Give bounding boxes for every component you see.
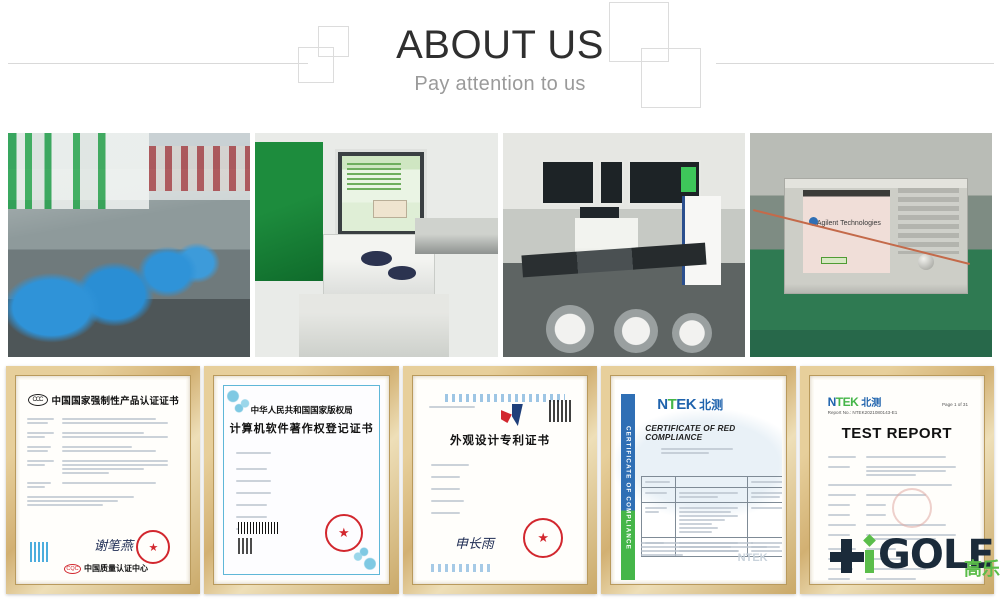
certificate-red-compliance[interactable]: CERTIFICATE OF COMPLIANCE NTEK 北测 CERTIF… (601, 366, 795, 594)
feeder-reel-3 (672, 313, 712, 353)
ccc-header: CCC 中国国家强制性产品认证证书 (20, 393, 186, 407)
network-analyzer: Agilent Technologies (784, 178, 968, 294)
barcode-icon (238, 522, 278, 534)
certificate-sheet: CCC 中国国家强制性产品认证证书 谢笔燕 (20, 380, 186, 580)
analyzer-brand-text: Agilent Technologies (817, 220, 881, 227)
cqc-badge-icon: CQC (64, 564, 81, 574)
analyzer-keypad (898, 188, 960, 254)
ntek-wordmark: NTEK (657, 396, 696, 413)
certificate-design-patent[interactable]: 外观设计专利证书 申长雨 (403, 366, 597, 594)
ntek-brand: NTEK 北测 (657, 396, 781, 413)
field-row (27, 494, 179, 508)
page-title: ABOUT US (0, 22, 1000, 68)
certificate-title: CERTIFICATE OF RED COMPLIANCE (645, 424, 781, 442)
picture-frame: CERTIFICATE OF COMPLIANCE NTEK 北测 CERTIF… (601, 366, 795, 594)
machine-base (299, 294, 449, 357)
machine-window-1 (541, 160, 594, 205)
issuer-name: 中国质量认证中心 (84, 563, 148, 574)
certificate-title: TEST REPORT (814, 425, 980, 442)
qr-code-icon (549, 400, 571, 422)
red-seal-stamp (523, 518, 563, 558)
photo-rf-test-equipment: Agilent Technologies (750, 133, 992, 357)
analyzer-knob (918, 254, 934, 270)
page-header: ABOUT US Pay attention to us (0, 0, 1000, 118)
decor-wave-bottom (431, 564, 491, 572)
ntek-brand-cn: 北测 (699, 396, 723, 413)
photo-smt-inspection-machine (255, 133, 497, 357)
frame-mat: 中华人民共和国国家版权局 计算机软件著作权登记证书 (213, 375, 389, 585)
signature: 申长雨 (455, 533, 494, 552)
field-row (27, 480, 179, 490)
conveyor-rail (415, 218, 497, 254)
field-row (431, 510, 569, 516)
field-row (431, 486, 569, 492)
machine-monitor (335, 149, 427, 239)
certificate-title: 外观设计专利证书 (417, 432, 583, 448)
table-header-cell (642, 477, 676, 487)
calibration-label (821, 257, 846, 264)
machine-window-2 (599, 160, 623, 205)
red-seal-stamp (892, 488, 932, 528)
certificate-sheet: CERTIFICATE OF COMPLIANCE NTEK 北测 CERTIF… (615, 380, 781, 580)
certificate-ccc[interactable]: CCC 中国国家强制性产品认证证书 谢笔燕 (6, 366, 200, 594)
clipboard-document (682, 196, 721, 286)
header-text-block: ABOUT US Pay attention to us (0, 0, 1000, 96)
table-row (642, 488, 781, 503)
table-row (642, 503, 781, 538)
picture-frame: 外观设计专利证书 申长雨 (403, 366, 597, 594)
table-header-cell (676, 477, 748, 487)
field-row (27, 444, 179, 454)
table-header-row (642, 477, 781, 488)
picture-frame: 中华人民共和国国家版权局 计算机软件著作权登记证书 (204, 366, 398, 594)
logo-i-mark-icon (864, 539, 876, 573)
feeder-reel-1 (546, 305, 594, 353)
certificate-title: 中国国家强制性产品认证证书 (52, 393, 179, 407)
watermark-text: NTEK (738, 552, 768, 564)
certificate-subtitle-lines (661, 448, 781, 454)
red-seal-stamp (325, 514, 363, 552)
table-header-cell (748, 477, 781, 487)
sidebar-banner-text: CERTIFICATE OF COMPLIANCE (625, 426, 632, 550)
ntek-brand-cn: 北测 (861, 394, 881, 409)
frame-mat: CCC 中国国家强制性产品认证证书 谢笔燕 (15, 375, 191, 585)
facility-photo-strip: Agilent Technologies (8, 133, 992, 357)
field-row (828, 454, 966, 460)
field-row (431, 498, 569, 504)
ccc-badge-icon: CCC (28, 394, 48, 406)
field-row (828, 464, 966, 478)
report-number: Report No.: NTEK2021080143-E1 (828, 410, 898, 415)
page-subtitle: Pay attention to us (0, 72, 1000, 96)
photo-assembly-line (8, 133, 250, 357)
patent-office-logo-icon (501, 404, 525, 426)
field-row (828, 482, 966, 488)
qr-code-icon (238, 538, 254, 554)
certificate-sheet: 中华人民共和国国家版权局 计算机软件著作权登记证书 (218, 380, 384, 580)
feeder-reel-2 (614, 309, 658, 353)
photo-pick-and-place-machine (503, 133, 745, 357)
qr-code-icon (30, 542, 50, 562)
ntek-wordmark: NTEK (828, 395, 859, 409)
field-row (431, 474, 569, 480)
feeder-arm (521, 243, 706, 278)
red-seal-stamp (136, 530, 170, 564)
machine-green-panel (255, 142, 323, 281)
field-row (27, 430, 179, 440)
page-number: Page 1 of 31 (942, 402, 968, 407)
certificate-sheet: 外观设计专利证书 申长雨 (417, 380, 583, 580)
decor-wave-top (445, 394, 565, 402)
certificate-software-copyright[interactable]: 中华人民共和国国家版权局 计算机软件著作权登记证书 (204, 366, 398, 594)
field-row (27, 458, 179, 476)
issuer-block: CQC 中国质量认证中心 (64, 563, 148, 574)
signature: 谢笔燕 (94, 535, 133, 554)
frame-mat: 外观设计专利证书 申长雨 (412, 375, 588, 585)
higole-logo: GOLE 高乐 (828, 527, 1000, 589)
sidebar-banner: CERTIFICATE OF COMPLIANCE (621, 394, 635, 580)
field-row (431, 462, 569, 468)
patent-number-line (429, 404, 475, 410)
logo-h-mark-icon (830, 539, 864, 573)
field-row (27, 416, 179, 426)
certificate-fields (27, 416, 179, 508)
picture-frame: CCC 中国国家强制性产品认证证书 谢笔燕 (6, 366, 200, 594)
logo-chinese-name: 高乐 (964, 555, 1000, 581)
frame-mat: CERTIFICATE OF COMPLIANCE NTEK 北测 CERTIF… (610, 375, 786, 585)
about-us-page: ABOUT US Pay attention to us (0, 0, 1000, 600)
